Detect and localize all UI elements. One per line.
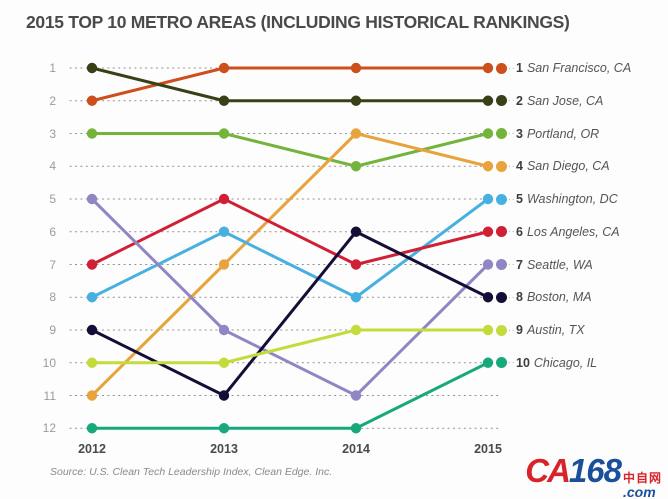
legend-metro-name: Washington, DC (527, 192, 618, 206)
legend-rank-number: 10 (516, 356, 530, 370)
series-san-francisco-ca (87, 63, 493, 106)
legend-rank-number: 6 (516, 225, 523, 239)
legend-dot-leader: ·· (507, 194, 516, 205)
data-point[interactable] (219, 358, 229, 368)
data-point[interactable] (87, 194, 97, 204)
legend-rank-number: 8 (516, 290, 523, 304)
y-tick-label: 1 (22, 61, 56, 75)
data-point[interactable] (219, 63, 229, 73)
legend-color-swatch (496, 292, 507, 303)
legend-metro-name: Portland, OR (527, 127, 599, 141)
data-point[interactable] (87, 63, 97, 73)
series-chicago-il (87, 358, 493, 434)
legend-dot-leader: ·· (507, 259, 516, 270)
legend-metro-name: Austin, TX (527, 323, 585, 337)
series-portland-or (87, 128, 493, 171)
data-point[interactable] (351, 423, 361, 433)
data-point[interactable] (483, 161, 493, 171)
series-boston-ma (87, 227, 493, 401)
data-point[interactable] (351, 96, 361, 106)
legend-rank-number: 9 (516, 323, 523, 337)
series-los-angeles-ca (87, 194, 493, 270)
series-line (92, 68, 488, 101)
legend-metro-name: San Jose, CA (527, 94, 603, 108)
watermark-logo: CA 168 中自网 .com (525, 452, 662, 499)
series-line (92, 232, 488, 396)
chart-page: 2015 TOP 10 METRO AREAS (INCLUDING HISTO… (0, 0, 668, 499)
data-point[interactable] (351, 161, 361, 171)
legend-item-austin-tx[interactable]: ··9Austin, TX (496, 321, 585, 339)
series-line (92, 199, 488, 265)
x-tick-label: 2014 (342, 442, 370, 456)
data-point[interactable] (483, 358, 493, 368)
legend-metro-name: Chicago, IL (534, 356, 597, 370)
watermark-number-text: 168 (569, 452, 621, 490)
legend-color-swatch (496, 95, 507, 106)
watermark-chinese-text: 中自网 (623, 472, 662, 485)
legend-color-swatch (496, 259, 507, 270)
y-tick-label: 6 (22, 225, 56, 239)
watermark-right-block: 中自网 .com (623, 472, 662, 499)
data-point[interactable] (351, 63, 361, 73)
data-point[interactable] (87, 259, 97, 269)
legend-item-boston-ma[interactable]: ··8Boston, MA (496, 288, 592, 306)
legend-dot-leader: ·· (507, 63, 516, 74)
series-line (92, 330, 488, 363)
y-tick-label: 3 (22, 127, 56, 141)
series-austin-tx (87, 325, 493, 368)
legend-item-san-francisco-ca[interactable]: ··1San Francisco, CA (496, 59, 631, 77)
data-point[interactable] (483, 194, 493, 204)
legend-item-washington-dc[interactable]: ··5Washington, DC (496, 190, 618, 208)
y-tick-label: 12 (22, 421, 56, 435)
data-point[interactable] (219, 390, 229, 400)
data-point[interactable] (219, 194, 229, 204)
legend-dot-leader: ·· (507, 226, 516, 237)
legend-rank-number: 7 (516, 258, 523, 272)
legend-item-chicago-il[interactable]: ··10Chicago, IL (496, 354, 597, 372)
legend-rank-number: 2 (516, 94, 523, 108)
data-point[interactable] (219, 128, 229, 138)
data-point[interactable] (87, 390, 97, 400)
legend-item-portland-or[interactable]: ··3Portland, OR (496, 125, 599, 143)
y-tick-label: 10 (22, 356, 56, 370)
data-point[interactable] (219, 227, 229, 237)
data-point[interactable] (483, 96, 493, 106)
legend-rank-number: 4 (516, 159, 523, 173)
page-title: 2015 TOP 10 METRO AREAS (INCLUDING HISTO… (26, 12, 570, 33)
legend-metro-name: Seattle, WA (527, 258, 593, 272)
legend-color-swatch (496, 226, 507, 237)
data-point[interactable] (87, 358, 97, 368)
series-line (92, 134, 488, 167)
data-point[interactable] (87, 423, 97, 433)
data-point[interactable] (87, 325, 97, 335)
x-tick-label: 2013 (210, 442, 238, 456)
legend-color-swatch (496, 357, 507, 368)
y-tick-label: 11 (22, 389, 56, 403)
series-line (92, 68, 488, 101)
data-point[interactable] (351, 128, 361, 138)
legend-dot-leader: ·· (507, 357, 516, 368)
data-point[interactable] (351, 227, 361, 237)
data-point[interactable] (483, 259, 493, 269)
data-point[interactable] (351, 259, 361, 269)
data-point[interactable] (219, 96, 229, 106)
legend-dot-leader: ·· (507, 292, 516, 303)
data-point[interactable] (351, 390, 361, 400)
data-point[interactable] (483, 325, 493, 335)
series-san-jose-ca (87, 63, 493, 106)
data-point[interactable] (483, 227, 493, 237)
legend-metro-name: San Francisco, CA (527, 61, 631, 75)
legend-rank-number: 5 (516, 192, 523, 206)
series-line (92, 199, 488, 297)
legend-dot-leader: ·· (507, 128, 516, 139)
x-tick-label: 2012 (78, 442, 106, 456)
data-point[interactable] (351, 292, 361, 302)
data-point[interactable] (351, 325, 361, 335)
legend-metro-name: Boston, MA (527, 290, 592, 304)
y-tick-label: 8 (22, 290, 56, 304)
legend-item-san-diego-ca[interactable]: ··4San Diego, CA (496, 157, 610, 175)
data-point[interactable] (219, 325, 229, 335)
series-seattle-wa (87, 194, 493, 401)
legend-color-swatch (496, 63, 507, 74)
legend-metro-name: San Diego, CA (527, 159, 610, 173)
legend-color-swatch (496, 194, 507, 205)
y-tick-label: 7 (22, 258, 56, 272)
watermark-ca-text: CA (525, 452, 569, 490)
data-point[interactable] (483, 63, 493, 73)
legend-rank-number: 1 (516, 61, 523, 75)
series-line (92, 134, 488, 396)
legend-item-seattle-wa[interactable]: ··7Seattle, WA (496, 256, 593, 274)
watermark-com-text: .com (623, 485, 662, 499)
legend-color-swatch (496, 161, 507, 172)
data-point[interactable] (87, 292, 97, 302)
data-point[interactable] (483, 128, 493, 138)
legend-dot-leader: ·· (507, 161, 516, 172)
legend-item-los-angeles-ca[interactable]: ··6Los Angeles, CA (496, 223, 620, 241)
legend-metro-name: Los Angeles, CA (527, 225, 620, 239)
legend-dot-leader: ·· (507, 325, 516, 336)
data-point[interactable] (87, 128, 97, 138)
y-tick-label: 4 (22, 159, 56, 173)
y-tick-label: 2 (22, 94, 56, 108)
legend-item-san-jose-ca[interactable]: ··2San Jose, CA (496, 92, 603, 110)
series-line (92, 199, 488, 396)
y-tick-label: 9 (22, 323, 56, 337)
series-san-diego-ca (87, 128, 493, 400)
series-line (92, 363, 488, 429)
data-point[interactable] (87, 96, 97, 106)
legend-dot-leader: ·· (507, 95, 516, 106)
y-tick-label: 5 (22, 192, 56, 206)
x-tick-label: 2015 (474, 442, 502, 456)
legend-rank-number: 3 (516, 127, 523, 141)
data-point[interactable] (483, 292, 493, 302)
legend-color-swatch (496, 325, 507, 336)
series-washington-dc (87, 194, 493, 303)
data-point[interactable] (219, 423, 229, 433)
legend-color-swatch (496, 128, 507, 139)
data-point[interactable] (219, 259, 229, 269)
source-note: Source: U.S. Clean Tech Leadership Index… (50, 466, 332, 478)
